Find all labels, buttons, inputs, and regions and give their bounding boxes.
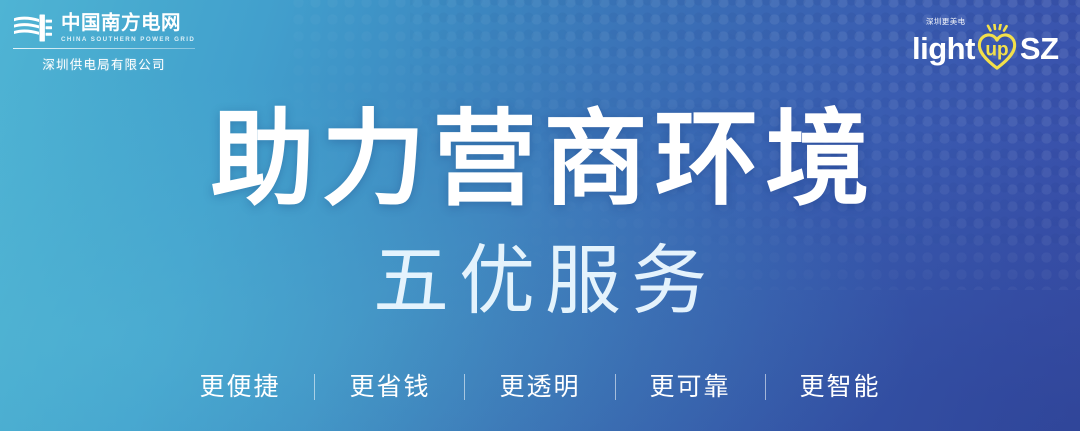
tagline-item: 更透明	[465, 372, 614, 402]
lightup-wordmark: light up SZ	[912, 28, 1059, 68]
tagline-item: 更便捷	[165, 372, 314, 402]
csg-company-name-cn: 中国南方电网	[61, 13, 195, 33]
tagline-row: 更便捷 更省钱 更透明 更可靠 更智能	[0, 372, 1080, 402]
lightup-tagline: 深圳更美电	[926, 16, 966, 27]
csg-subsidiary-name: 深圳供电局有限公司	[13, 54, 195, 73]
promotional-banner: 中国南方电网 CHINA SOUTHERN POWER GRID 深圳供电局有限…	[0, 0, 1080, 431]
heart-up-icon: up	[973, 24, 1021, 72]
svg-text:up: up	[985, 40, 1008, 61]
csg-logo: 中国南方电网 CHINA SOUTHERN POWER GRID 深圳供电局有限…	[13, 12, 195, 73]
csg-logo-top-row: 中国南方电网 CHINA SOUTHERN POWER GRID	[13, 12, 195, 44]
csg-logo-wordmark: 中国南方电网 CHINA SOUTHERN POWER GRID	[61, 12, 195, 44]
csg-company-name-en: CHINA SOUTHERN POWER GRID	[61, 35, 195, 44]
tagline-item: 更省钱	[315, 372, 464, 402]
tagline-item: 更可靠	[616, 372, 765, 402]
lightup-sz-logo: 深圳更美电 light up SZ	[912, 8, 1064, 74]
page-title: 助力营商环境	[0, 107, 1080, 211]
lightup-word-sz: SZ	[1020, 33, 1059, 64]
csg-logo-divider	[13, 48, 195, 49]
tagline-item: 更智能	[766, 372, 915, 402]
page-subtitle: 五优服务	[0, 243, 1080, 319]
lightup-word-light: light	[912, 33, 975, 64]
csg-wave-mark-icon	[13, 13, 53, 43]
